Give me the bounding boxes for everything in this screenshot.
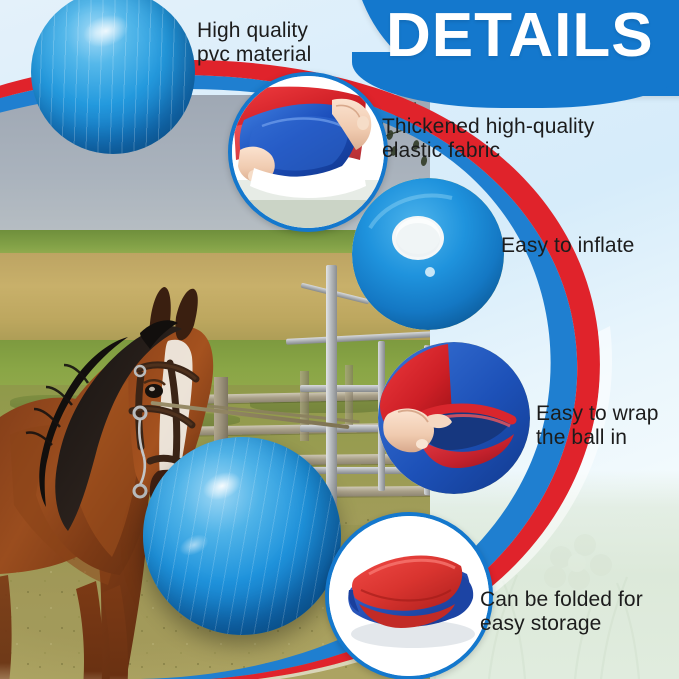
- feature-label-pvc-material: High quality pvc material: [197, 19, 311, 68]
- fence-post: [345, 365, 353, 425]
- callout-easy-inflate: [352, 178, 504, 330]
- feature-label-elastic-fabric: Thickened high-quality elastic fabric: [382, 115, 594, 164]
- foreground-exercise-ball: [143, 437, 341, 635]
- folded-cover-illustration: [329, 516, 489, 676]
- feature-label-easy-inflate: Easy to inflate: [501, 234, 634, 258]
- inflation-valve-illustration: [352, 178, 504, 330]
- hand-opening-cover-illustration: [378, 342, 530, 494]
- callout-elastic-fabric: [228, 72, 388, 232]
- support-pole: [326, 265, 337, 515]
- banner-title: DETAILS: [386, 5, 654, 67]
- hands-stretching-fabric-illustration: [232, 76, 384, 228]
- callout-easy-wrap: [378, 342, 530, 494]
- feature-label-easy-wrap: Easy to wrap the ball in: [536, 402, 659, 451]
- product-detail-infographic: DETAILS: [0, 0, 679, 679]
- callout-foldable-storage: [325, 512, 493, 679]
- ball-ribs: [143, 437, 341, 635]
- feature-label-foldable-storage: Can be folded for easy storage: [480, 588, 643, 637]
